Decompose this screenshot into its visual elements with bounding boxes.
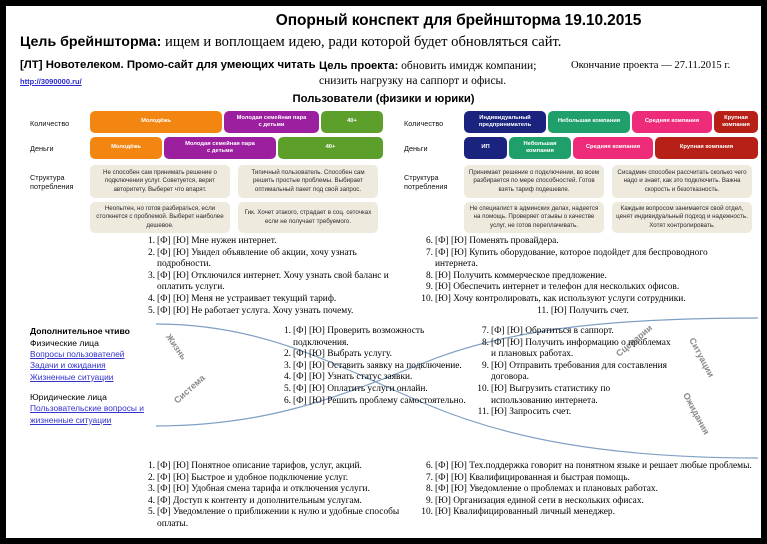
consumption-card: Каждым вопросом занимается свой отдел, ц… [612,202,752,233]
situations-list-right: 6.[Ф] [Ю] Поменять провайдера.7.[Ф] [Ю] … [418,236,748,317]
expectation-left-item: 4.[Ф] Доступ к контенту и дополнительным… [142,496,417,508]
label-structure-individuals: Структура потребления [30,173,73,191]
list-item-text: [Ф] [Ю] Проверить возможность подключени… [293,326,424,348]
bar-row-money-legal: ИПНебольшаякомпанияСредняя компанияКрупн… [464,137,760,159]
label-structure-legal: Структура потребления [404,173,447,191]
list-item-text: [Ю] Выгрузить статистику по использовани… [491,384,610,406]
label-quantity-legal: Количество [404,119,443,128]
individuals-money-segment: Молодая семейная парас детьми [164,137,276,159]
individuals-quantity-segment: Молодая семейная парас детьми [224,111,319,133]
scenario-right-item: 10.[Ю] Выгрузить статистику по использов… [474,384,674,407]
individuals-quantity-segment: 40+ [321,111,383,133]
list-item-text: [Ю] Обеспечить интернет и телефон для не… [435,282,679,292]
list-item-number: 7. [418,473,433,485]
brainstorm-goal: Цель брейншторма: ищем и воплощаем идею,… [20,34,755,51]
reading-link-tasks-expectations[interactable]: Задачи и ожидания [30,360,155,371]
list-item-text: [Ф] [Ю] Тех.поддержка говорит на понятно… [435,461,752,471]
scenario-left-item: 4.[Ф] [Ю] Узнать статус заявки. [278,372,468,384]
list-item-text: [Ю] Квалифицированный личный менеджер. [435,507,615,517]
label-structure-l2: потребления [30,182,73,191]
situation-left-item: 2.[Ф] [Ю] Увидел объявление об акции, хо… [142,248,412,271]
situation-right-item: 6.[Ф] [Ю] Поменять провайдера. [418,236,748,248]
label-structure-legal-l2: потребления [404,182,447,191]
reading-individuals-label: Физические лица [30,338,155,350]
list-item-text: [Ф] [Ю] Не работает услуга. Хочу узнать … [157,306,353,316]
list-item-text: [Ф] [Ю] Мне нужен интернет. [157,236,276,246]
list-item-number: 10. [418,294,433,306]
scenario-right-item: 8.[Ф] [Ю] Получить информацию о проблема… [474,338,674,361]
list-item-number: 4. [142,294,155,306]
reading-legal-label: Юридические лица [30,392,155,404]
list-item-number: 5. [142,306,155,318]
list-item-number: 10. [418,507,433,519]
additional-reading-title: Дополнительное чтиво [30,326,155,338]
legal-money-segment: Средняя компания [573,137,653,159]
list-item-text: [Ф] [Ю] Решить проблему самостоятельно. [293,396,466,406]
list-item-number: 3. [278,361,291,373]
legal-quantity-segment: Индивидуальныйпредприниматель [464,111,546,133]
consumption-card: Типичный пользователь. Способен сам реши… [238,165,378,198]
list-item-number: 4. [142,496,155,508]
reading-link-life-situations[interactable]: Жизненные ситуации [30,372,155,383]
list-item-number: 1. [142,236,155,248]
label-structure-l1: Структура [30,173,65,182]
list-item-number: 2. [278,349,291,361]
consumption-card: Не способен сам принимать решение о подк… [90,165,230,198]
consumption-card: Принимает решение о подключении, во всем… [464,165,604,198]
consumption-card: Гик. Хочет этакого, страдает в соц. сето… [238,202,378,233]
consumption-card: Неопытен, но готов разбираться, если сто… [90,202,230,233]
legal-quantity-segment: Крупнаякомпания [714,111,758,133]
list-item-text: [Ф] [Ю] Уведомление о проблемах и планов… [435,484,658,494]
individuals-money-segment: Молодёжь [90,137,162,159]
situation-left-item: 4.[Ф] [Ю] Меня не устраивает текущий тар… [142,294,412,306]
project-goal: Цель проекта: обновить имидж компании; с… [319,59,574,89]
list-item-number: 8. [474,338,489,350]
reading-link-user-questions[interactable]: Вопросы пользователей [30,349,155,360]
page-title: Опорный конспект для брейншторма 19.10.2… [6,12,761,30]
list-item-text: [Ю] Запросить счет. [491,407,571,417]
expectations-list-left: 1.[Ф] [Ю] Понятное описание тарифов, усл… [142,461,417,531]
scenario-left-item: 1.[Ф] [Ю] Проверить возможность подключе… [278,326,468,349]
reading-link-legal-questions[interactable]: Пользовательские вопросы и жизненные сит… [30,403,155,426]
expectation-right-item: 9.[Ю] Организация единой сети в нескольк… [418,496,753,508]
list-item-number: 4. [278,372,291,384]
brainstorm-goal-label: Цель брейншторма: [20,34,161,50]
legal-quantity-segment: Небольшая компания [548,111,630,133]
situation-left-item: 5.[Ф] [Ю] Не работает услуга. Хочу узнат… [142,306,412,318]
project-deadline: Окончание проекта — 27.11.2015 г. [571,60,761,71]
list-item-number: 9. [474,361,489,373]
bar-row-money-individuals: МолодёжьМолодая семейная парас детьми40+ [90,137,385,159]
list-item-number: 5. [142,507,155,519]
curve-label-system: Система [172,373,207,406]
list-item-number: 2. [142,248,155,260]
list-item-text: [Ф] [Ю] Обратиться в саппорт. [491,326,614,336]
project-identity: [ЛТ] Новотелеком. Промо-сайт для умеющих… [20,59,320,89]
list-item-text: [Ю] Получить коммерческое предложение. [435,271,607,281]
situation-right-item: 11. [Ю] Получить счет. [418,306,748,318]
legal-money-segment: Небольшаякомпания [509,137,571,159]
scenarios-list-left: 1.[Ф] [Ю] Проверить возможность подключе… [278,326,468,407]
expectations-list-right: 6.[Ф] [Ю] Тех.поддержка говорит на понят… [418,461,753,519]
legal-money-segment: ИП [464,137,507,159]
situation-left-item: 1.[Ф] [Ю] Мне нужен интернет. [142,236,412,248]
list-item-text: [Ф] Доступ к контенту и дополнительным у… [157,496,362,506]
list-item-number: 8. [418,271,433,283]
list-item-number: 1. [142,461,155,473]
bar-row-quantity-individuals: МолодёжьМолодая семейная парас детьми40+ [90,111,385,133]
project-goal-text: обновить имидж компании; [398,60,536,72]
list-item-text: [Ф] [Ю] Получить информацию о проблемах … [491,338,671,360]
list-item-number: 7. [418,248,433,260]
list-item-number: 7. [474,326,489,338]
list-item-number: 6. [418,461,433,473]
scenario-left-item: 3.[Ф] [Ю] Оставить заявку на подключение… [278,361,468,373]
label-quantity-individuals: Количество [30,119,69,128]
situation-right-item: 8.[Ю] Получить коммерческое предложение. [418,271,748,283]
expectation-left-item: 1.[Ф] [Ю] Понятное описание тарифов, усл… [142,461,417,473]
additional-reading-block: Дополнительное чтиво Физические лица Воп… [30,326,155,426]
label-money-individuals: Деньги [30,144,54,153]
situation-right-item: 10.[Ю] Хочу контролировать, как использу… [418,294,748,306]
bar-row-quantity-legal: ИндивидуальныйпредпринимательНебольшая к… [464,111,760,133]
project-goal-label: Цель проекта: [319,60,398,72]
list-item-number: 6. [418,236,433,248]
list-item-number: 10. [474,384,489,396]
consumption-card: Не специалист в админских делах, надеетс… [464,202,604,233]
expectation-right-item: 10.[Ю] Квалифицированный личный менеджер… [418,507,753,519]
situation-right-item: 7.[Ф] [Ю] Купить оборудование, которое п… [418,248,748,271]
legal-quantity-segment: Средняя компания [632,111,712,133]
project-url-link[interactable]: http://3090000.ru/ [20,77,82,86]
curve-label-life: Жизнь [164,332,189,362]
scenario-left-item: 2.[Ф] [Ю] Выбрать услугу. [278,349,468,361]
curve-label-expectations: Ожидания [681,391,711,436]
list-item-number: 3. [142,484,155,496]
list-item-text: [Ю] Организация единой сети в нескольких… [435,496,644,506]
individuals-money-segment: 40+ [278,137,383,159]
brainstorm-goal-text: ищем и воплощаем идею, ради которой буде… [161,34,561,50]
list-item-number: 3. [142,271,155,283]
situations-list-left: 1.[Ф] [Ю] Мне нужен интернет.2.[Ф] [Ю] У… [142,236,412,317]
expectation-right-item: 7.[Ф] [Ю] Квалифицированная и быстрая по… [418,473,753,485]
project-name: [ЛТ] Новотелеком. Промо-сайт для умеющих… [20,59,320,71]
list-item-text: [Ю] Хочу контролировать, как используют … [435,294,686,304]
list-item-text: [Ф] [Ю] Оплатить услуги онлайн. [293,384,428,394]
list-item-number: 1. [278,326,291,338]
list-item-text: [Ф] [Ю] Узнать статус заявки. [293,372,412,382]
list-item-text: [Ф] [Ю] Понятное описание тарифов, услуг… [157,461,362,471]
scenario-right-item: 9.[Ю] Отправить требования для составлен… [474,361,674,384]
reading-spacer [30,383,155,392]
scenario-right-item: 7.[Ф] [Ю] Обратиться в саппорт. [474,326,674,338]
curve-label-situations: Ситуации [687,336,716,379]
list-item-text: [Ф] [Ю] Быстрое и удобное подключение ус… [157,473,348,483]
situation-left-item: 3.[Ф] [Ю] Отключился интернет. Хочу узна… [142,271,412,294]
expectation-right-item: 8.[Ф] [Ю] Уведомление о проблемах и план… [418,484,753,496]
list-item-number: 9. [418,282,433,294]
scenario-right-item: 11.[Ю] Запросить счет. [474,407,674,419]
individuals-quantity-segment: Молодёжь [90,111,222,133]
expectation-left-item: 2.[Ф] [Ю] Быстрое и удобное подключение … [142,473,417,485]
list-item-text: [Ю] Отправить требования для составления… [491,361,667,383]
list-item-number: 8. [418,484,433,496]
situation-right-item: 9.[Ю] Обеспечить интернет и телефон для … [418,282,748,294]
scenarios-list-right: 7.[Ф] [Ю] Обратиться в саппорт.8.[Ф] [Ю]… [474,326,674,419]
legal-money-segment: Крупная компания [655,137,758,159]
list-item-number: 2. [142,473,155,485]
consumption-card: Сисадмин способен рассчитать сколько чег… [612,165,752,198]
scenario-left-item: 6.[Ф] [Ю] Решить проблему самостоятельно… [278,396,468,408]
users-section-title: Пользователи (физики и юрики) [6,93,761,105]
list-item-text: [Ф] [Ю] Отключился интернет. Хочу узнать… [157,271,389,293]
list-item-text: [Ф] [Ю] Увидел объявление об акции, хочу… [157,248,357,270]
label-structure-legal-l1: Структура [404,173,439,182]
expectation-left-item: 3.[Ф] [Ю] Удобная смена тарифа и отключе… [142,484,417,496]
list-item-text: [Ф] Уведомление о приближении к нулю и у… [157,507,399,529]
list-item-text: [Ф] [Ю] Удобная смена тарифа и отключени… [157,484,370,494]
list-item-text: [Ф] [Ю] Купить оборудование, которое под… [435,248,708,270]
list-item-number: 11. [474,407,489,419]
list-item-text: [Ф] [Ю] Меня не устраивает текущий тариф… [157,294,336,304]
expectation-left-item: 5.[Ф] Уведомление о приближении к нулю и… [142,507,417,530]
list-item-text: [Ф] [Ю] Поменять провайдера. [435,236,559,246]
expectation-right-item: 6.[Ф] [Ю] Тех.поддержка говорит на понят… [418,461,753,473]
list-item-number: 6. [278,396,291,408]
list-item-text: [Ф] [Ю] Выбрать услугу. [293,349,392,359]
project-goal-text-2: снизить нагрузку на саппорт и офисы. [319,74,574,89]
poster-canvas: Опорный конспект для брейншторма 19.10.2… [6,6,761,538]
scenario-left-item: 5.[Ф] [Ю] Оплатить услуги онлайн. [278,384,468,396]
label-money-legal: Деньги [404,144,428,153]
list-item-text: [Ф] [Ю] Квалифицированная и быстрая помо… [435,473,630,483]
list-item-number: 5. [278,384,291,396]
list-item-text: [Ф] [Ю] Оставить заявку на подключение. [293,361,462,371]
list-item-number: 9. [418,496,433,508]
